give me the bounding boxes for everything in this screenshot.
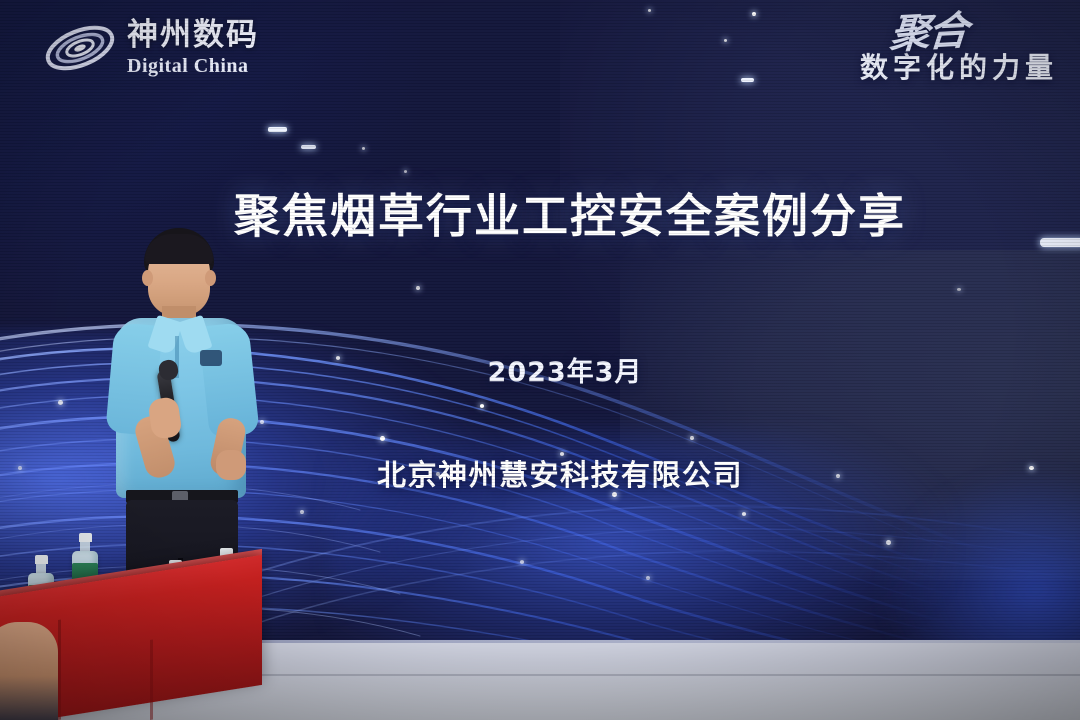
brand-name-cn: 神州数码 <box>127 20 259 51</box>
speaker-hair-front <box>145 234 213 264</box>
wave-glow-right <box>880 470 1080 648</box>
speaker-chest-logo-icon <box>200 350 222 366</box>
stage-photo: 神州数码 Digital China 聚合 数字化的力量 聚焦烟草行业工控安全案… <box>0 0 1080 720</box>
bottle-cap <box>79 533 92 542</box>
brand-wordmark: 神州数码 Digital China <box>127 20 259 76</box>
seated-attendee <box>0 622 58 720</box>
brand-logo: 神州数码 Digital China <box>42 18 259 78</box>
spiral-swirl-logo-icon <box>42 18 118 78</box>
bottle-cap <box>35 555 48 564</box>
table-fold <box>150 640 153 720</box>
theme-calligraphy: 聚合 <box>888 12 967 54</box>
bottle-neck <box>36 564 46 573</box>
speaker-hand-right <box>216 450 246 480</box>
speaker-ear-left <box>142 270 153 286</box>
event-theme-mark: 聚合 数字化的力量 <box>860 14 1058 86</box>
brand-name-en: Digital China <box>127 56 259 76</box>
table-fold <box>58 620 61 720</box>
bottle-neck <box>80 542 90 551</box>
speaker-ear-right <box>205 270 216 286</box>
